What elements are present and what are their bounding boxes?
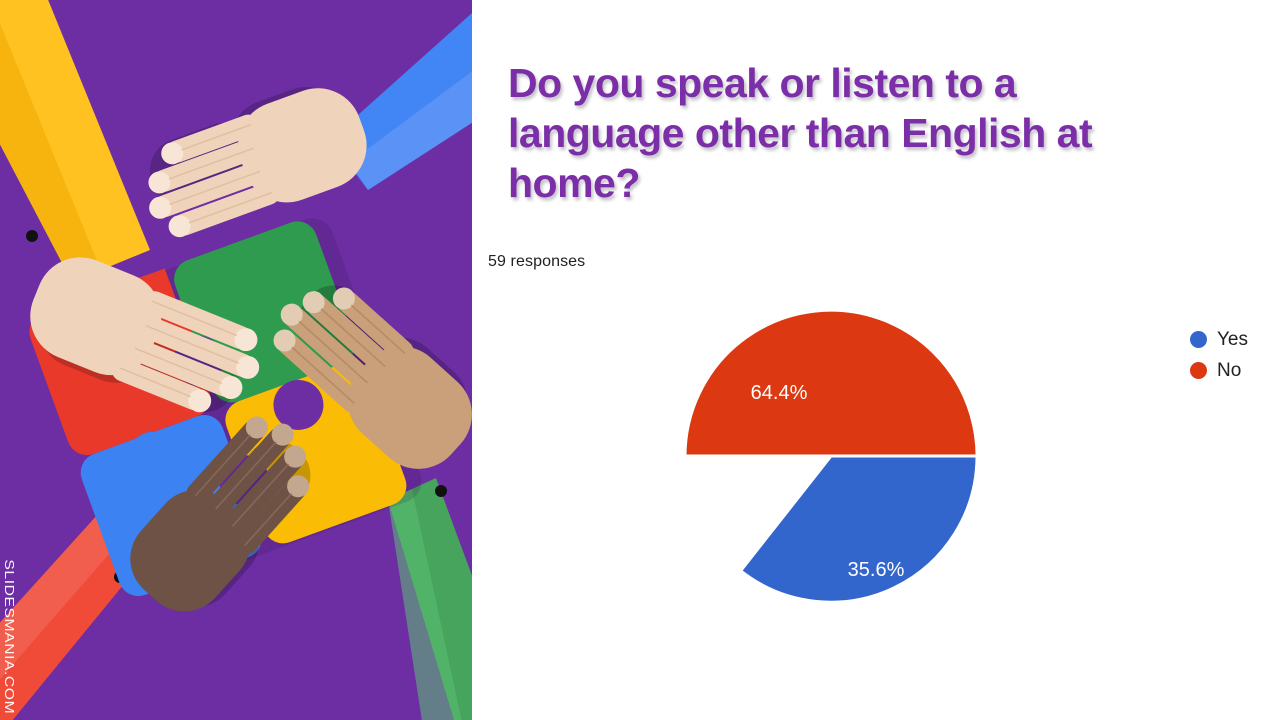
pie-label-no: 64.4% <box>751 382 808 404</box>
slidesmania-watermark: SLIDESMANIA.COM <box>2 559 17 714</box>
legend-dot-no <box>1190 362 1207 379</box>
content-panel: Do you speak or listen to a language oth… <box>472 0 1280 720</box>
response-count: 59 responses <box>488 253 585 271</box>
chart-legend: Yes No <box>1190 324 1280 386</box>
four-hands-puzzle-illustration <box>0 0 472 720</box>
sleeve-button-dot <box>26 230 38 242</box>
illustration-panel: SLIDESMANIA.COM <box>0 0 472 720</box>
pie-chart-area: 64.4% 35.6% Yes No <box>472 290 1280 670</box>
pie-label-yes: 35.6% <box>848 559 905 581</box>
page-title: Do you speak or listen to a language oth… <box>508 58 1198 208</box>
legend-label-yes: Yes <box>1217 330 1248 349</box>
legend-item-no[interactable]: No <box>1190 355 1280 386</box>
legend-dot-yes <box>1190 331 1207 348</box>
sleeve-button-dot <box>435 485 447 497</box>
slide: SLIDESMANIA.COM Do you speak or listen t… <box>0 0 1280 720</box>
pie-chart: 64.4% 35.6% <box>677 302 985 610</box>
legend-label-no: No <box>1217 361 1241 380</box>
legend-item-yes[interactable]: Yes <box>1190 324 1280 355</box>
